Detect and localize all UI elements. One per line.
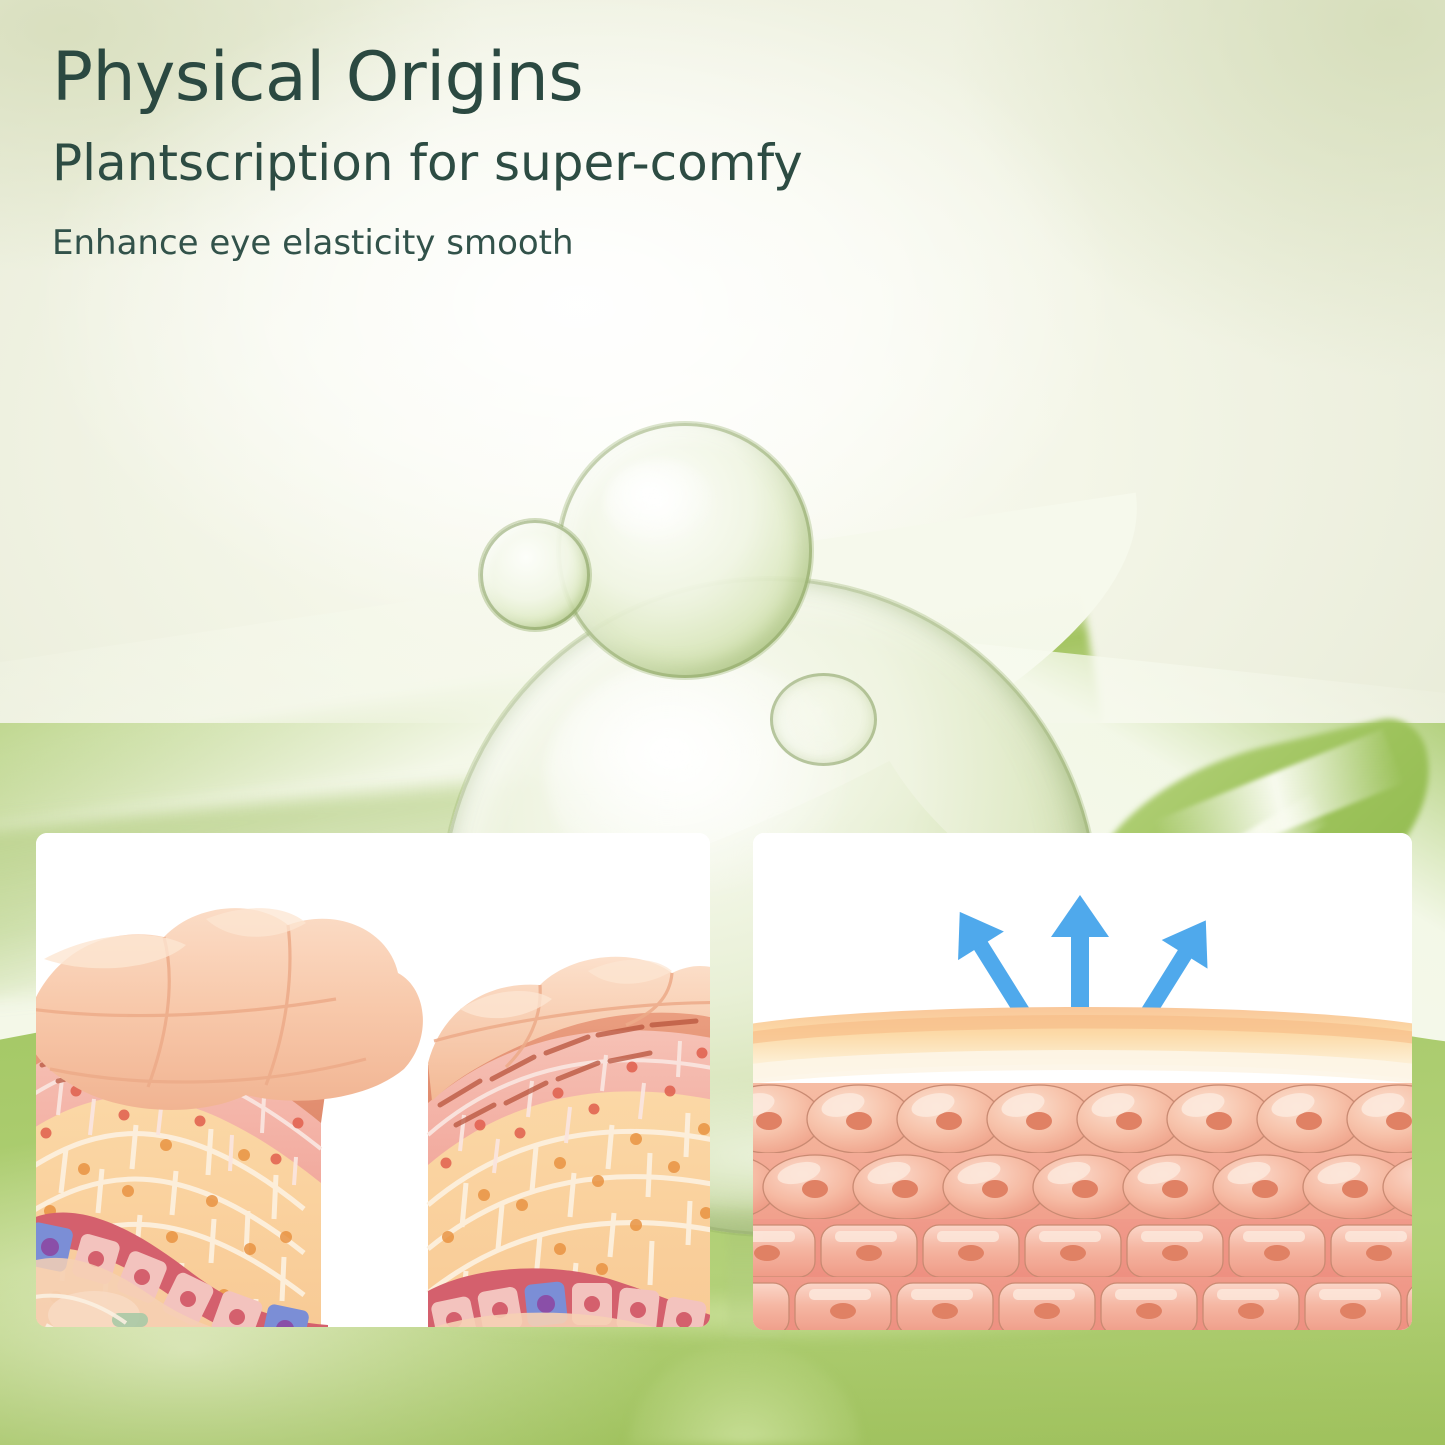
heading-block: Physical Origins Plantscription for supe… (52, 44, 1252, 260)
bubble-inner-ring (770, 673, 877, 766)
page-tagline: Enhance eye elasticity smooth (52, 226, 1252, 260)
cell-row-4 (753, 1283, 1412, 1330)
bubble-top-rim (558, 423, 812, 677)
bubble-top-highlight (604, 459, 716, 545)
bubble-top (558, 423, 812, 677)
bubble-side-small (480, 520, 590, 630)
page-title: Physical Origins (52, 44, 1252, 112)
poster-canvas: Physical Origins Plantscription for supe… (0, 0, 1445, 1445)
panel-wrinkled-skin (36, 833, 710, 1327)
lifted-skin-illustration (753, 833, 1412, 1330)
bubble-side-small-rim (480, 520, 590, 630)
cell-row-3 (753, 1225, 1412, 1277)
page-subtitle: Plantscription for super-comfy (52, 138, 1252, 188)
wrinkled-skin-illustration (36, 833, 710, 1327)
panel-lifted-skin (753, 833, 1412, 1330)
bubble-pool-reflection (629, 1344, 860, 1445)
